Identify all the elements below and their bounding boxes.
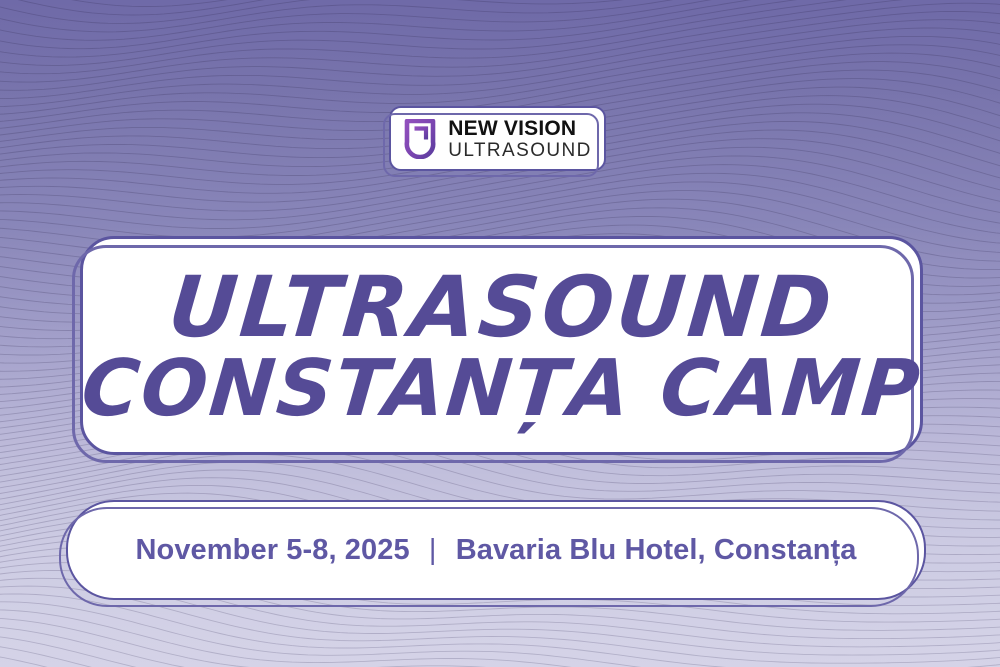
event-title-line-2: CONSTANȚA CAMP	[79, 353, 924, 426]
event-details-card: November 5-8, 2025 | Bavaria Blu Hotel, …	[66, 500, 926, 600]
event-venue: Bavaria Blu Hotel, Constanța	[456, 534, 857, 566]
brand-wordmark: NEW VISION ULTRASOUND	[448, 118, 592, 160]
event-dates: November 5-8, 2025	[135, 534, 409, 566]
event-title-line-1: ULTRASOUND	[166, 268, 838, 347]
event-title-card: ULTRASOUND CONSTANȚA CAMP	[80, 236, 923, 455]
event-details-text: November 5-8, 2025 | Bavaria Blu Hotel, …	[135, 534, 856, 567]
event-banner: NEW VISION ULTRASOUND ULTRASOUND CONSTAN…	[0, 0, 1000, 667]
brand-name-secondary: ULTRASOUND	[448, 141, 592, 160]
brand-name-primary: NEW VISION	[448, 118, 592, 139]
logo-badge: NEW VISION ULTRASOUND	[389, 106, 606, 171]
details-separator: |	[418, 534, 448, 567]
new-vision-ultrasound-shield-logo-icon	[403, 119, 437, 159]
